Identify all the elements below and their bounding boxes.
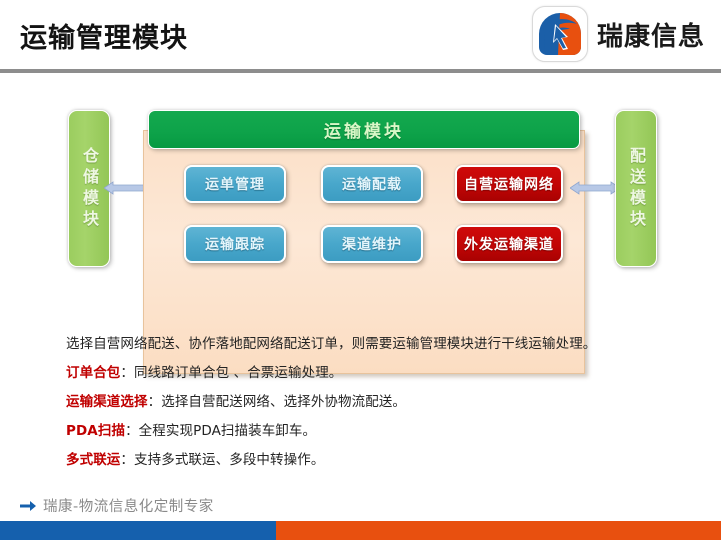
description-item-desc: 全程实现PDA扫描装车卸车。 bbox=[139, 423, 316, 439]
description-item: 订单合包：同线路订单合包 、合票运输处理。 bbox=[66, 361, 676, 385]
diagram-node-channel-maintenance[interactable]: 渠道维护 bbox=[321, 225, 423, 263]
diagram-node-label: 自营运输网络 bbox=[464, 174, 554, 194]
diagram-node-waybill-management[interactable]: 运单管理 bbox=[184, 165, 286, 203]
footer-tagline-label: 瑞康-物流信息化定制专家 bbox=[43, 495, 214, 516]
brand-name: 瑞康信息 bbox=[597, 16, 705, 53]
diagram-node-label: 渠道维护 bbox=[342, 234, 402, 254]
description-item-separator: ： bbox=[148, 394, 162, 410]
description-item-separator: ： bbox=[120, 365, 134, 381]
diagram-node-delivery-module[interactable]: 配送模块 bbox=[615, 110, 657, 267]
diagram-node-label: 外发运输渠道 bbox=[464, 234, 554, 254]
description-intro: 选择自营网络配送、协作落地配网络配送订单，则需要运输管理模块进行干线运输处理。 bbox=[66, 332, 676, 356]
transport-module-header: 运输模块 bbox=[148, 110, 580, 149]
diagram-node-transport-tracking[interactable]: 运输跟踪 bbox=[184, 225, 286, 263]
double-arrow-icon bbox=[570, 180, 620, 194]
page-header: 运输管理模块 瑞康信息 bbox=[0, 0, 721, 69]
diagram-node-label: 运输配载 bbox=[342, 174, 402, 194]
diagram-node-delivery-module-label: 配送模块 bbox=[624, 147, 648, 231]
transport-module-header-label: 运输模块 bbox=[324, 117, 404, 142]
diagram-node-label: 运单管理 bbox=[205, 174, 265, 194]
description-item-term: 订单合包 bbox=[66, 365, 120, 381]
description-item-desc: 选择自营配送网络、选择外协物流配送。 bbox=[161, 394, 406, 410]
arrow-right-icon bbox=[20, 500, 36, 512]
diagram-node-label: 运输跟踪 bbox=[205, 234, 265, 254]
description-item-separator: ： bbox=[125, 423, 139, 439]
description-item-term: 多式联运 bbox=[66, 452, 120, 468]
page-title: 运输管理模块 bbox=[20, 16, 188, 55]
diagram-node-warehouse-module-label: 仓储模块 bbox=[77, 147, 101, 231]
diagram-node-self-operated-network[interactable]: 自营运输网络 bbox=[455, 165, 563, 203]
description-item: 运输渠道选择：选择自营配送网络、选择外协物流配送。 bbox=[66, 390, 676, 414]
diagram-node-transport-loading[interactable]: 运输配载 bbox=[321, 165, 423, 203]
footer-tagline: 瑞康-物流信息化定制专家 bbox=[20, 495, 214, 516]
header-divider bbox=[0, 69, 721, 73]
ruikang-logo-icon bbox=[532, 6, 588, 62]
footer-bar-orange-segment bbox=[276, 521, 721, 540]
footer-bar bbox=[0, 521, 721, 540]
description-item: 多式联运：支持多式联运、多段中转操作。 bbox=[66, 448, 676, 472]
transport-module-diagram: 仓储模块 运输模块 运单管理 运输配载 自营运输网络 运输跟踪 渠道维护 外发运… bbox=[0, 80, 721, 310]
footer-bar-blue-segment bbox=[0, 521, 276, 540]
description-item: PDA扫描：全程实现PDA扫描装车卸车。 bbox=[66, 419, 676, 443]
description-item-separator: ： bbox=[120, 452, 134, 468]
diagram-node-outsourced-channel[interactable]: 外发运输渠道 bbox=[455, 225, 563, 263]
description-item-term: 运输渠道选择 bbox=[66, 394, 148, 410]
brand-block: 瑞康信息 bbox=[532, 6, 705, 62]
description-item-desc: 支持多式联运、多段中转操作。 bbox=[134, 452, 324, 468]
description-block: 选择自营网络配送、协作落地配网络配送订单，则需要运输管理模块进行干线运输处理。 … bbox=[66, 332, 676, 477]
description-item-desc: 同线路订单合包 、合票运输处理。 bbox=[134, 365, 342, 381]
description-item-term: PDA扫描 bbox=[66, 423, 125, 439]
